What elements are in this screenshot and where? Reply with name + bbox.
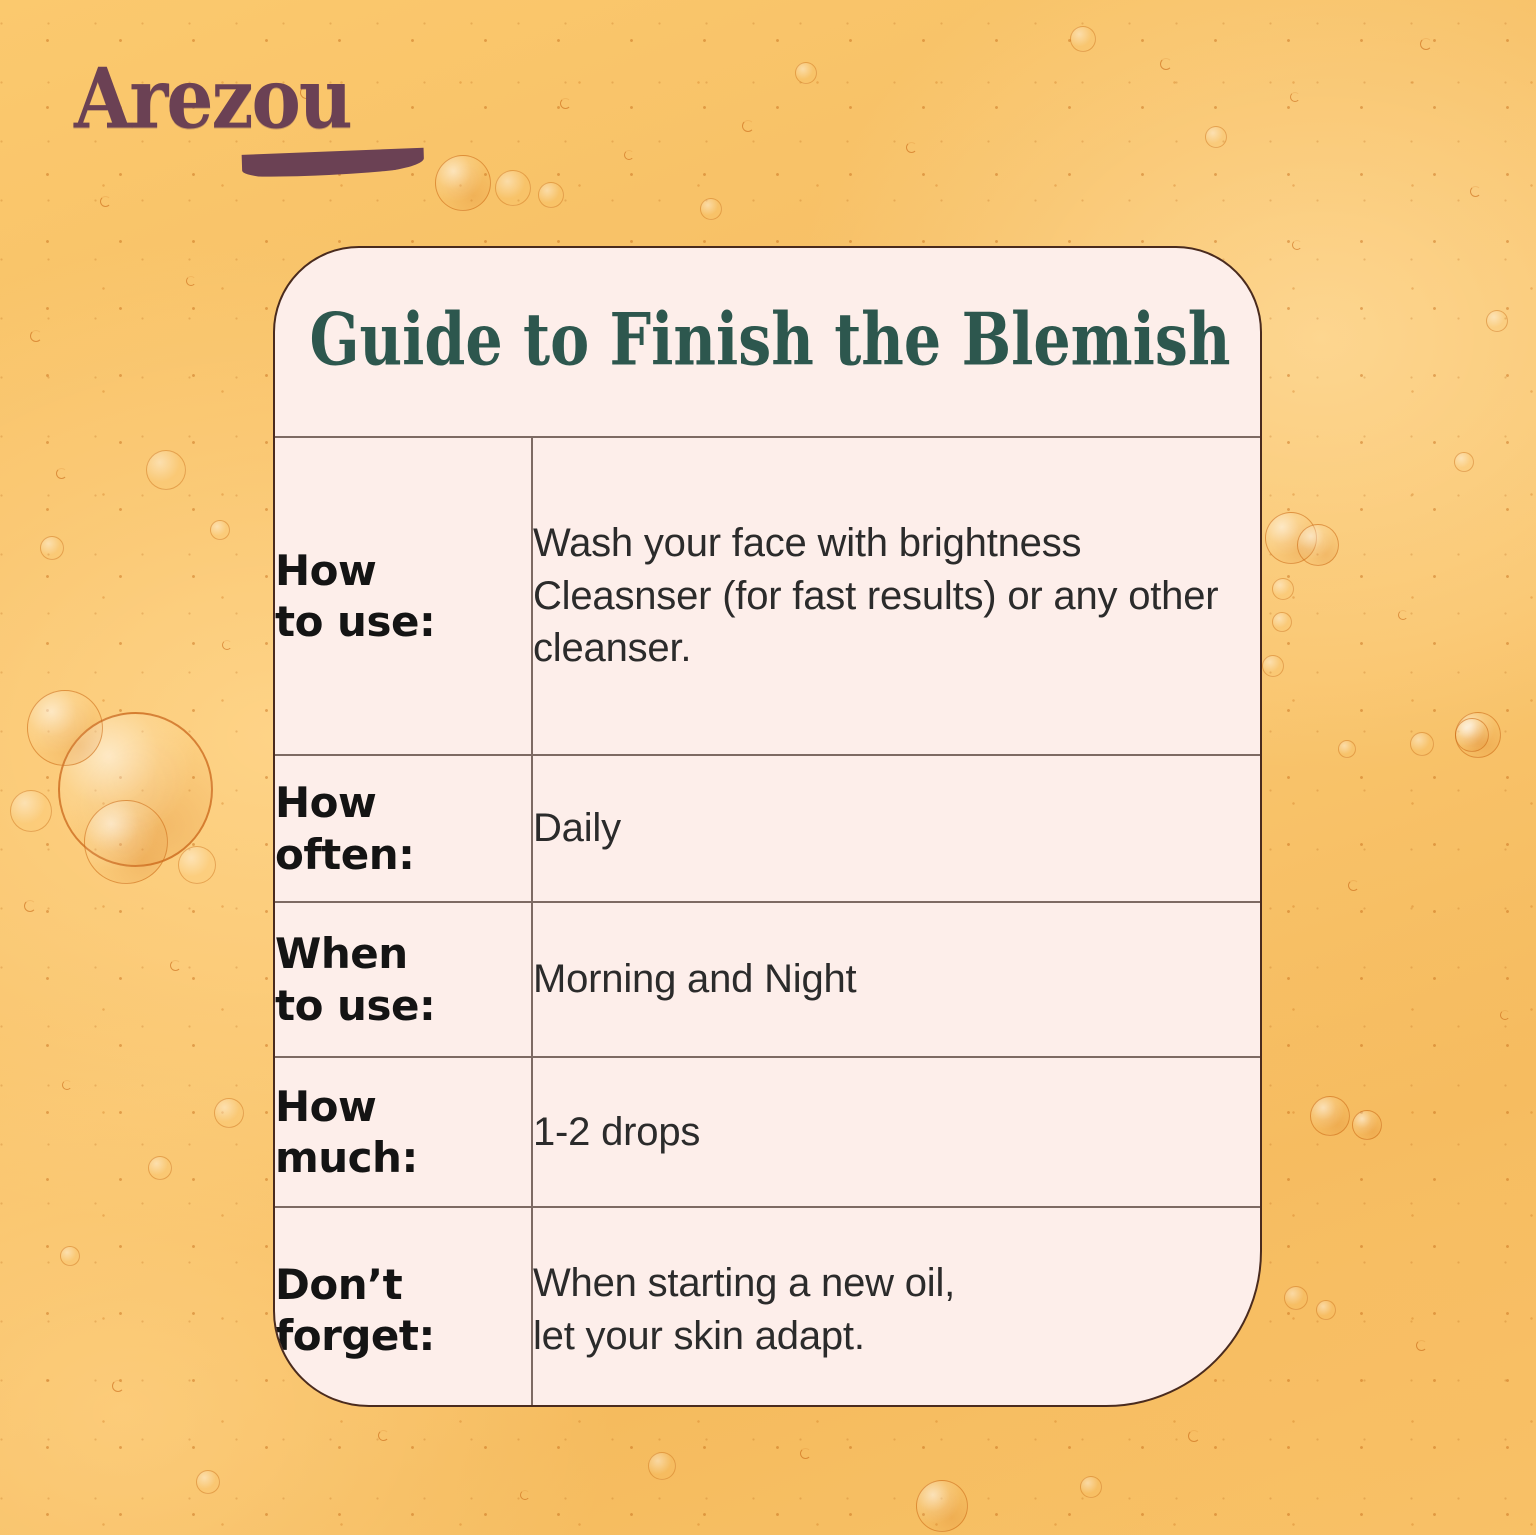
- oil-bubble: [1454, 452, 1474, 472]
- micro-bubble: [1348, 880, 1359, 891]
- oil-bubble: [60, 1246, 80, 1266]
- micro-bubble: [1500, 1010, 1510, 1020]
- oil-bubble: [196, 1470, 220, 1494]
- brand-logo[interactable]: Arezou: [74, 58, 351, 141]
- micro-bubble: [1416, 1340, 1427, 1351]
- usage-guide-table: How to use: Wash your face with brightne…: [275, 436, 1260, 1407]
- row-label: Don’t forget:: [275, 1259, 531, 1361]
- micro-bubble: [520, 1490, 530, 1500]
- row-value: Daily: [533, 802, 1260, 855]
- oil-bubble: [40, 536, 64, 560]
- oil-bubble: [1205, 126, 1227, 148]
- table-row: When to use: Morning and Night: [275, 902, 1260, 1057]
- oil-bubble: [1080, 1476, 1102, 1498]
- brand-logo-text: Arezou: [74, 51, 351, 147]
- micro-bubble: [56, 468, 67, 479]
- logo-swash-flourish: [242, 148, 425, 181]
- micro-bubble: [1188, 1430, 1200, 1442]
- oil-bubble: [146, 450, 186, 490]
- oil-bubble: [495, 170, 531, 206]
- micro-bubble: [112, 1380, 124, 1392]
- micro-bubble: [1160, 58, 1172, 70]
- table-row: Don’t forget: When starting a new oil, l…: [275, 1207, 1260, 1407]
- card-title: Guide to Finish the Blemish: [309, 304, 1225, 376]
- micro-bubble: [1398, 610, 1408, 620]
- row-value-cell: Daily: [532, 755, 1260, 902]
- oil-bubble: [1455, 712, 1501, 758]
- table-row: How much: 1-2 drops: [275, 1057, 1260, 1207]
- oil-bubble: [1316, 1300, 1336, 1320]
- row-label-cell: How to use:: [275, 437, 532, 755]
- table-row: How often: Daily: [275, 755, 1260, 902]
- micro-bubble: [1470, 186, 1481, 197]
- oil-bubble: [27, 690, 103, 766]
- row-value-cell: Morning and Night: [532, 902, 1260, 1057]
- row-label-cell: How much:: [275, 1057, 532, 1207]
- micro-bubble: [1292, 240, 1302, 250]
- micro-bubble: [170, 960, 181, 971]
- oil-bubble: [84, 800, 168, 884]
- row-label-cell: When to use:: [275, 902, 532, 1057]
- micro-bubble: [1290, 92, 1300, 102]
- row-label-cell: Don’t forget:: [275, 1207, 532, 1407]
- oil-bubble: [1284, 1286, 1308, 1310]
- micro-bubble: [222, 640, 232, 650]
- row-value-cell: Wash your face with brightness Cleasnser…: [532, 437, 1260, 755]
- oil-bubble: [1272, 612, 1292, 632]
- row-label: How often:: [275, 777, 531, 879]
- row-label-cell: How often:: [275, 755, 532, 902]
- micro-bubble: [378, 1430, 389, 1441]
- micro-bubble: [800, 1448, 811, 1459]
- oil-bubble: [58, 712, 213, 867]
- oil-bubble: [1310, 1096, 1350, 1136]
- oil-bubble: [1352, 1110, 1382, 1140]
- micro-bubble: [742, 120, 754, 132]
- micro-bubble: [560, 98, 571, 109]
- row-label: When to use:: [275, 928, 531, 1030]
- table-row: How to use: Wash your face with brightne…: [275, 437, 1260, 755]
- guide-card: Guide to Finish the Blemish How to use: …: [273, 246, 1262, 1407]
- micro-bubble: [1420, 38, 1432, 50]
- oil-bubble: [1262, 655, 1284, 677]
- oil-bubble: [795, 62, 817, 84]
- row-value: When starting a new oil, let your skin a…: [533, 1257, 1260, 1363]
- oil-bubble: [538, 182, 564, 208]
- micro-bubble: [24, 900, 36, 912]
- oil-bubble: [1410, 732, 1434, 756]
- micro-bubble: [30, 330, 42, 342]
- micro-bubble: [906, 142, 917, 153]
- oil-bubble: [648, 1452, 676, 1480]
- oil-bubble: [1272, 578, 1294, 600]
- row-value: Wash your face with brightness Cleasnser…: [533, 517, 1260, 675]
- oil-bubble: [214, 1098, 244, 1128]
- row-value-cell: When starting a new oil, let your skin a…: [532, 1207, 1260, 1407]
- row-label: How much:: [275, 1081, 531, 1183]
- oil-bubble: [1486, 310, 1508, 332]
- micro-bubble: [62, 1080, 72, 1090]
- oil-bubble: [700, 198, 722, 220]
- poster-canvas: Arezou Guide to Finish the Blemish How t…: [0, 0, 1536, 1535]
- oil-bubble: [178, 846, 216, 884]
- oil-bubble: [210, 520, 230, 540]
- oil-bubble: [435, 155, 491, 211]
- oil-bubble: [1297, 524, 1339, 566]
- row-value: Morning and Night: [533, 953, 1260, 1006]
- oil-bubble: [148, 1156, 172, 1180]
- micro-bubble: [100, 196, 111, 207]
- row-value: 1-2 drops: [533, 1106, 1260, 1159]
- micro-bubble: [624, 150, 634, 160]
- oil-bubble: [1265, 512, 1317, 564]
- oil-bubble: [1455, 718, 1489, 752]
- oil-bubble: [10, 790, 52, 832]
- oil-bubble: [1338, 740, 1356, 758]
- micro-bubble: [186, 276, 196, 286]
- row-label: How to use:: [275, 545, 531, 647]
- oil-bubble: [1070, 26, 1096, 52]
- row-value-cell: 1-2 drops: [532, 1057, 1260, 1207]
- oil-bubble: [916, 1480, 968, 1532]
